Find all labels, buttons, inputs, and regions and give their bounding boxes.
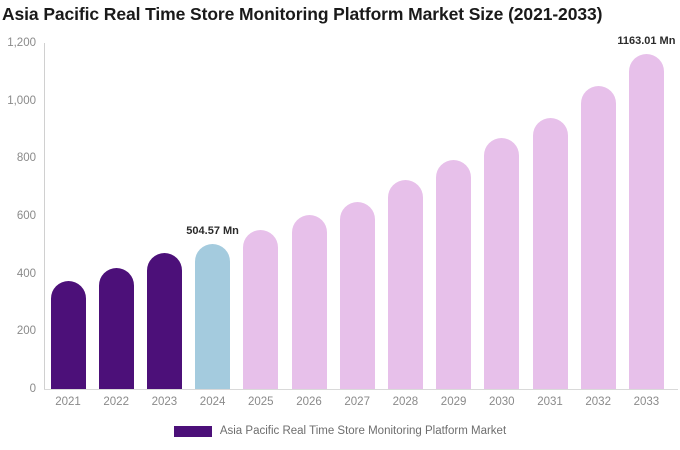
- bar-2032[interactable]: [581, 86, 616, 389]
- plot-area: [44, 43, 676, 389]
- legend-swatch: [174, 426, 212, 437]
- bar-2030[interactable]: [484, 138, 519, 389]
- bar-2033[interactable]: [629, 54, 664, 389]
- bar-2029[interactable]: [436, 160, 471, 389]
- bar-2027[interactable]: [340, 202, 375, 389]
- bar-2024[interactable]: [195, 244, 230, 389]
- y-axis-tick-label: 600: [0, 210, 36, 222]
- bar-chart: Asia Pacific Real Time Store Monitoring …: [0, 0, 680, 450]
- y-axis-tick-label: 1,200: [0, 37, 36, 49]
- x-axis-line: [44, 389, 678, 390]
- chart-title: Asia Pacific Real Time Store Monitoring …: [2, 4, 602, 25]
- bar-2026[interactable]: [292, 215, 327, 389]
- bar-2025[interactable]: [243, 230, 278, 389]
- y-axis-tick-label: 0: [0, 383, 36, 395]
- x-axis-tick-label-2033: 2033: [616, 396, 676, 408]
- y-axis-tick-label: 200: [0, 325, 36, 337]
- bar-2031[interactable]: [533, 118, 568, 389]
- bar-2022[interactable]: [99, 268, 134, 389]
- bar-2021[interactable]: [51, 281, 86, 389]
- legend: Asia Pacific Real Time Store Monitoring …: [0, 425, 680, 437]
- bar-2028[interactable]: [388, 180, 423, 389]
- legend-label: Asia Pacific Real Time Store Monitoring …: [220, 425, 506, 437]
- bar-2023[interactable]: [147, 253, 182, 389]
- y-axis-tick-label: 1,000: [0, 95, 36, 107]
- bar-value-label-2024: 504.57 Mn: [186, 225, 239, 237]
- y-axis-tick-label: 400: [0, 268, 36, 280]
- y-axis-tick-label: 800: [0, 152, 36, 164]
- bar-value-label-2033: 1163.01 Mn: [617, 35, 675, 47]
